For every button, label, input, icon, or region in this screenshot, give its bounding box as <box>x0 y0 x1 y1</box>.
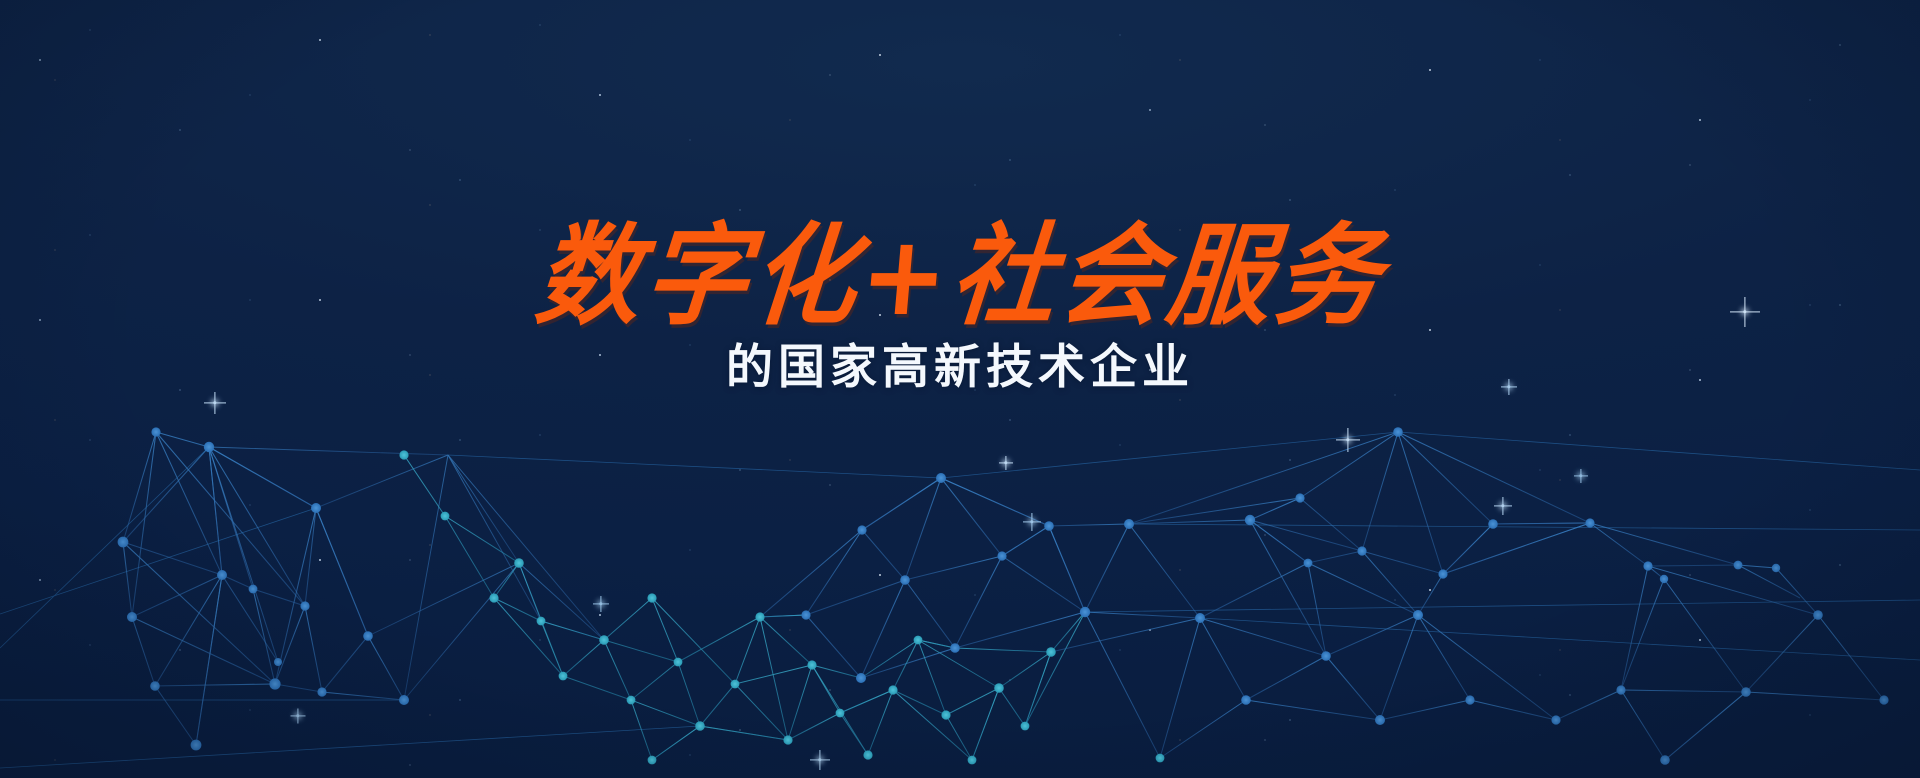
hero-banner: 数字化+社会服务 的国家高新技术企业 <box>0 0 1920 778</box>
hero-headline: 数字化+社会服务 <box>0 219 1920 334</box>
hero-text-block: 数字化+社会服务 的国家高新技术企业 <box>0 222 1920 394</box>
hero-subheadline: 的国家高新技术企业 <box>0 342 1920 394</box>
